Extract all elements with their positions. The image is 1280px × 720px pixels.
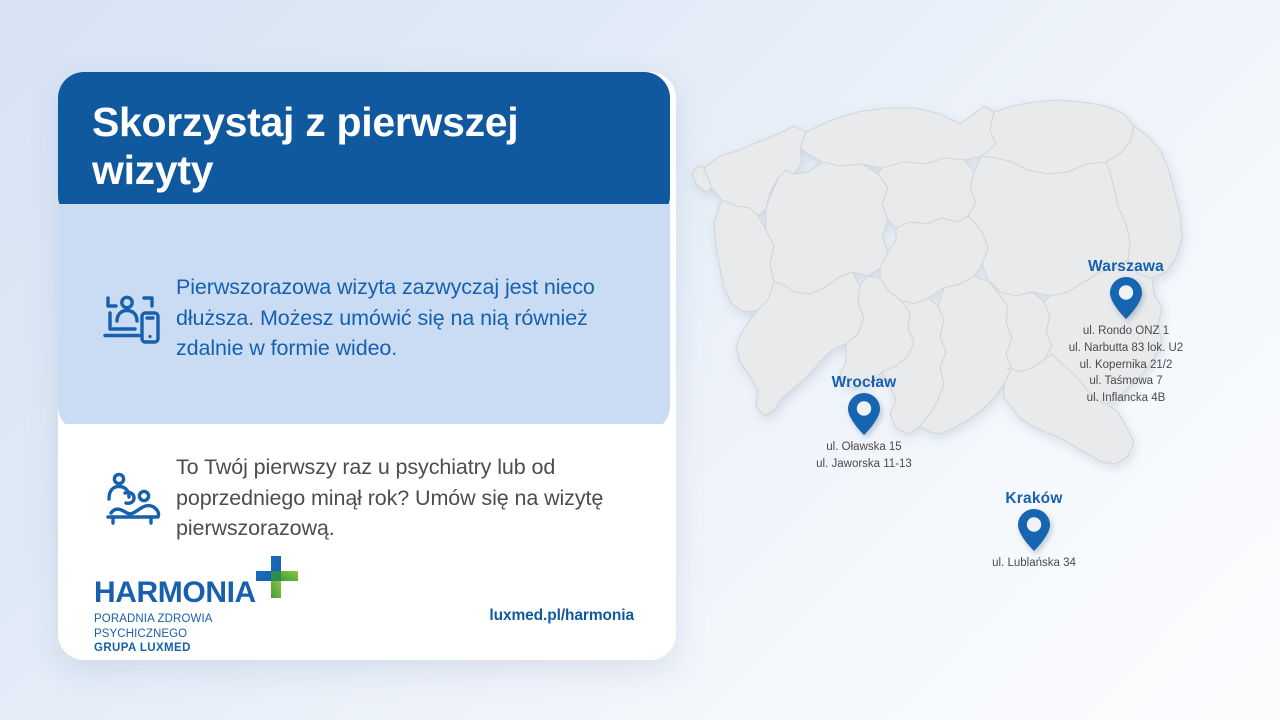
poland-map-area: Warszawa ul. Rondo ONZ 1 ul. Narbutta 83… (676, 0, 1280, 720)
feature-text-therapy: To Twój pierwszy raz u psychiatry lub od… (176, 452, 640, 544)
address-item: ul. Oławska 15 (754, 439, 974, 456)
promo-card: Skorzystaj z pierwszej wizyty Pierwszora… (58, 72, 676, 660)
logo-wordmark: HARMONIA (94, 578, 344, 608)
city-marker-wroclaw[interactable]: Wrocław ul. Oławska 15 ul. Jaworska 11-1… (754, 374, 974, 473)
city-label-warszawa: Warszawa (1006, 258, 1246, 276)
region-pomorskie (800, 106, 996, 168)
therapy-session-icon (88, 469, 176, 527)
address-item: ul. Narbutta 83 lok. U2 (1006, 340, 1246, 357)
address-list-krakow: ul. Lublańska 34 (934, 555, 1134, 572)
address-item: ul. Jaworska 11-13 (754, 456, 974, 473)
map-pin-icon (1017, 508, 1051, 552)
map-pin-warszawa[interactable] (1006, 276, 1246, 320)
city-marker-krakow[interactable]: Kraków ul. Lublańska 34 (934, 490, 1134, 572)
region-wielkopolskie (766, 162, 888, 294)
feature-text-video: Pierwszorazowa wizyta zazwyczaj jest nie… (176, 272, 640, 364)
city-label-wroclaw: Wrocław (754, 374, 974, 392)
map-pin-krakow[interactable] (934, 508, 1134, 552)
region-kujawsko-pomorskie (878, 158, 976, 228)
logo-subtitle-line1: PORADNIA ZDROWIA (94, 612, 344, 627)
logo-subtitle-line2: PSYCHICZNEGO (94, 627, 344, 642)
logo-subtitle-line3: GRUPA LUXMED (94, 642, 344, 654)
map-pin-icon (1109, 276, 1143, 320)
feature-panel-therapy: To Twój pierwszy raz u psychiatry lub od… (58, 424, 670, 572)
card-footer: HARMONIA PORADNIA ZDROWIA PSYCHICZNEGO G… (58, 572, 676, 660)
map-pin-wroclaw[interactable] (754, 392, 974, 436)
page-title: Skorzystaj z pierwszej wizyty (92, 99, 636, 194)
footer-url-link[interactable]: luxmed.pl/harmonia (489, 607, 634, 625)
card-header: Skorzystaj z pierwszej wizyty (58, 72, 670, 222)
map-pin-icon (847, 392, 881, 436)
logo-subtitle: PORADNIA ZDROWIA PSYCHICZNEGO (94, 612, 344, 641)
region-lubuskie (714, 200, 774, 312)
address-item: ul. Rondo ONZ 1 (1006, 323, 1246, 340)
harmonia-logo[interactable]: HARMONIA PORADNIA ZDROWIA PSYCHICZNEGO G… (94, 578, 344, 654)
city-label-krakow: Kraków (934, 490, 1134, 508)
feature-panel-video: Pierwszorazowa wizyta zazwyczaj jest nie… (58, 204, 670, 432)
address-item: ul. Kopernika 21/2 (1006, 357, 1246, 374)
city-marker-warszawa[interactable]: Warszawa ul. Rondo ONZ 1 ul. Narbutta 83… (1006, 258, 1246, 407)
address-list-wroclaw: ul. Oławska 15 ul. Jaworska 11-13 (754, 439, 974, 473)
address-item: ul. Taśmowa 7 (1006, 373, 1246, 390)
address-list-warszawa: ul. Rondo ONZ 1 ul. Narbutta 83 lok. U2 … (1006, 323, 1246, 407)
cross-logo-icon (254, 554, 300, 605)
address-item: ul. Lublańska 34 (934, 555, 1134, 572)
address-item: ul. Inflancka 4B (1006, 390, 1246, 407)
video-consultation-icon (88, 289, 176, 347)
